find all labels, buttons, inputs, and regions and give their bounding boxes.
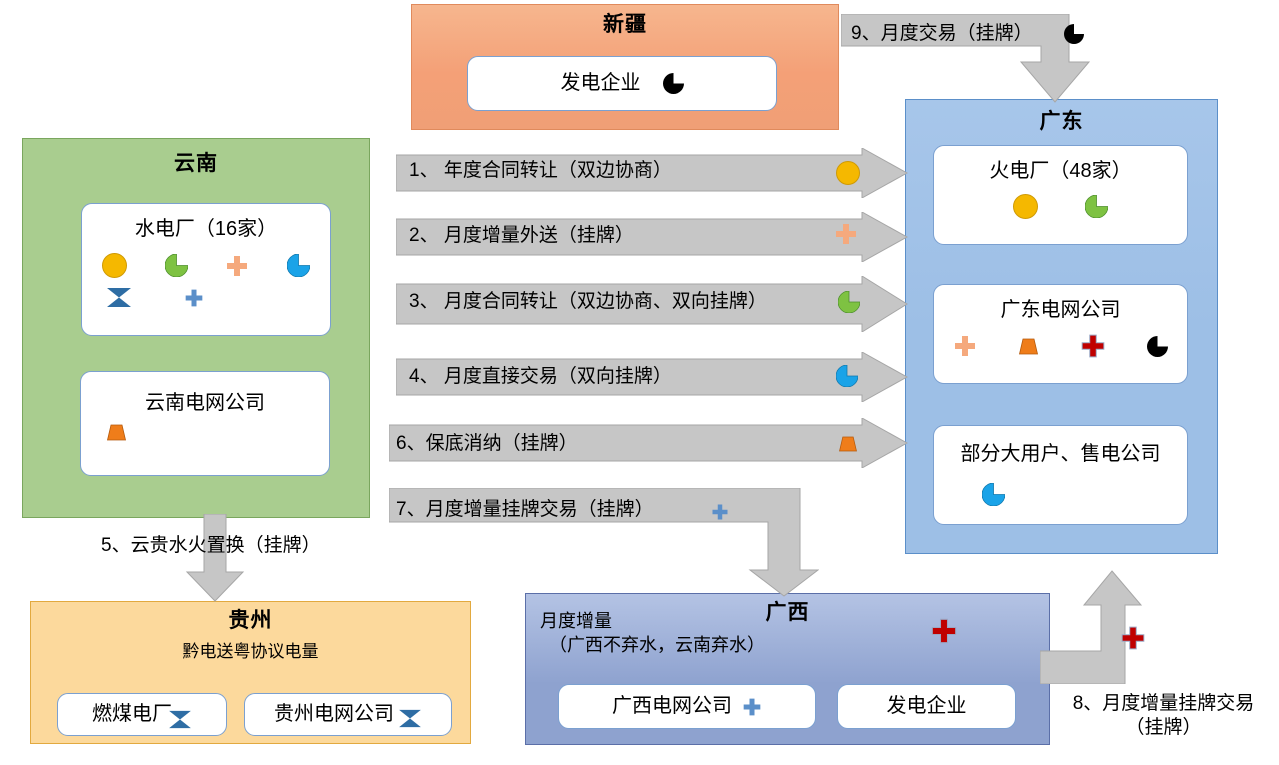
region-title-guangdong: 广东	[906, 111, 1217, 132]
pie-blue-icon	[836, 365, 858, 387]
card-guizhou-grid[interactable]: 贵州电网公司	[244, 693, 452, 736]
card-title-guangxi-generator: 发电企业	[887, 694, 967, 719]
cross-peach-icon	[225, 254, 249, 278]
region-guangxi: 广西 月度增量 （广西不弃水，云南弃水） 广西电网公司 发电企业	[525, 593, 1050, 745]
card-title-guangdong-users: 部分大用户、售电公司	[951, 442, 1171, 467]
guangxi-badge	[930, 617, 958, 645]
arrow-2-icon-wrap	[834, 222, 858, 246]
arrow-4-shape	[396, 352, 908, 402]
cross-peach-icon	[834, 222, 858, 246]
card-title-guangxi-grid: 广西电网公司	[612, 694, 732, 719]
card-guizhou-coal[interactable]: 燃煤电厂	[57, 693, 227, 736]
pie-green-icon	[165, 254, 188, 277]
card-yunnan-grid[interactable]: 云南电网公司	[80, 371, 330, 476]
cross-steel-icon	[742, 697, 762, 717]
arrow-7-icon-wrap	[711, 503, 729, 521]
arrow-1-icon-wrap	[836, 161, 860, 185]
region-xinjiang: 新疆 发电企业	[411, 4, 839, 130]
card-title-yunnan-hydro: 水电厂（16家）	[135, 217, 277, 242]
cross-peach-icon	[953, 334, 977, 358]
cross-red-icon	[1120, 625, 1146, 651]
region-title-yunnan: 云南	[23, 153, 369, 174]
card-title-guangdong-grid: 广东电网公司	[1001, 298, 1121, 323]
arrow-8-label-line2: （挂牌）	[1051, 716, 1276, 740]
card-guangxi-generator[interactable]: 发电企业	[837, 684, 1016, 729]
circle-yellow-icon	[1013, 194, 1038, 219]
region-guangdong: 广东 火电厂（48家） 广东电网公司	[905, 99, 1218, 554]
pie-black-icon	[1064, 24, 1084, 44]
pie-blue-icon	[982, 483, 1005, 506]
arrow-9-icon-wrap	[1064, 24, 1084, 44]
cross-red-icon	[930, 617, 958, 645]
card-title-guizhou-grid: 贵州电网公司	[274, 702, 394, 727]
pie-blue-icon	[287, 254, 310, 277]
diagram-canvas: 新疆 发电企业 云南 水电厂（16家）	[0, 0, 1279, 765]
pie-black-icon	[1147, 336, 1168, 357]
circle-yellow-icon	[836, 161, 860, 185]
card-guangdong-grid[interactable]: 广东电网公司	[933, 284, 1188, 384]
region-title-xinjiang: 新疆	[412, 14, 838, 35]
arrow-5-label: 5、云贵水火置换（挂牌）	[101, 534, 321, 558]
bowtie-blue-icon	[106, 287, 132, 308]
card-title-guizhou-coal: 燃煤电厂	[92, 702, 172, 727]
arrow-7-shape	[389, 488, 819, 598]
circle-yellow-icon	[102, 253, 127, 278]
region-guizhou: 贵州 黔电送粤协议电量 燃煤电厂 贵州电网公司	[30, 601, 471, 744]
trapezoid-orange-icon	[106, 424, 127, 441]
trapezoid-orange-icon	[838, 436, 858, 452]
card-title-guangdong-thermal: 火电厂（48家）	[989, 159, 1131, 184]
card-guangxi-grid[interactable]: 广西电网公司	[558, 684, 816, 729]
cross-red-icon	[1080, 333, 1106, 359]
arrow-1-shape	[396, 148, 908, 198]
arrow-2-shape	[396, 212, 908, 262]
arrow-8-label-line1: 8、月度增量挂牌交易	[1051, 692, 1276, 716]
region-yunnan: 云南 水电厂（16家）	[22, 138, 370, 518]
arrow-4-icon-wrap	[836, 365, 858, 387]
arrow-5-shape	[185, 514, 245, 602]
arrow-8-shape	[1040, 561, 1160, 684]
card-xinjiang-generator[interactable]: 发电企业	[467, 56, 777, 111]
guangxi-note: 月度增量 （广西不弃水，云南弃水）	[540, 609, 765, 658]
arrow-6-icon-wrap	[838, 435, 858, 453]
arrow-6-shape	[389, 418, 908, 468]
bowtie-blue-icon	[168, 710, 192, 729]
pie-green-icon	[838, 291, 860, 313]
bowtie-blue-icon	[398, 709, 422, 728]
card-title-xinjiang-generator: 发电企业	[561, 71, 641, 96]
trapezoid-orange-icon	[1018, 338, 1039, 355]
pie-black-icon	[663, 73, 684, 94]
arrow-8-icon-wrap	[1120, 625, 1146, 651]
card-title-yunnan-grid: 云南电网公司	[145, 391, 265, 416]
region-subtitle-guizhou: 黔电送粤协议电量	[31, 637, 470, 662]
arrow-3-icon-wrap	[838, 291, 860, 313]
card-guangdong-thermal[interactable]: 火电厂（48家）	[933, 145, 1188, 245]
arrow-3-shape	[396, 276, 908, 332]
card-yunnan-hydro[interactable]: 水电厂（16家）	[81, 203, 331, 336]
cross-steel-icon	[184, 288, 204, 308]
arrow-8-label: 8、月度增量挂牌交易 （挂牌）	[1051, 692, 1276, 740]
card-guangdong-users[interactable]: 部分大用户、售电公司	[933, 425, 1188, 525]
pie-green-icon	[1085, 195, 1108, 218]
region-title-guizhou: 贵州	[31, 610, 470, 631]
guangxi-note-line2: （广西不弃水，云南弃水）	[549, 633, 765, 657]
cross-steel-icon	[711, 503, 729, 521]
guangxi-note-line1: 月度增量	[540, 609, 765, 633]
